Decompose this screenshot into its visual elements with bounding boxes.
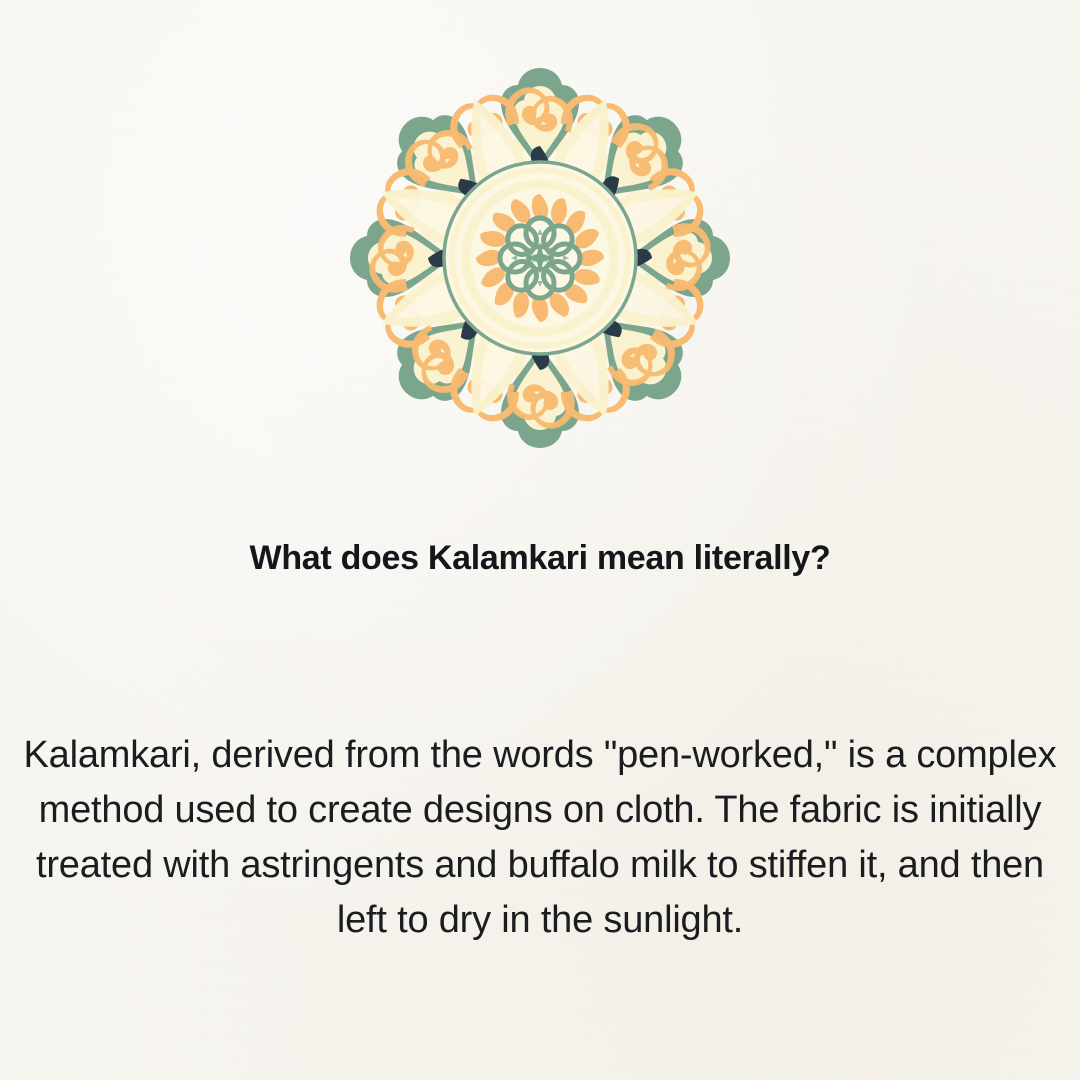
mandala-illustration — [310, 28, 770, 488]
page-title: What does Kalamkari mean literally? — [0, 538, 1080, 579]
body-paragraph: Kalamkari, derived from the words "pen-w… — [0, 728, 1080, 948]
mandala-center-flower — [500, 218, 580, 298]
mandala-center-medallion — [444, 162, 636, 354]
fact-card: What does Kalamkari mean literally? Kala… — [0, 0, 1080, 1080]
